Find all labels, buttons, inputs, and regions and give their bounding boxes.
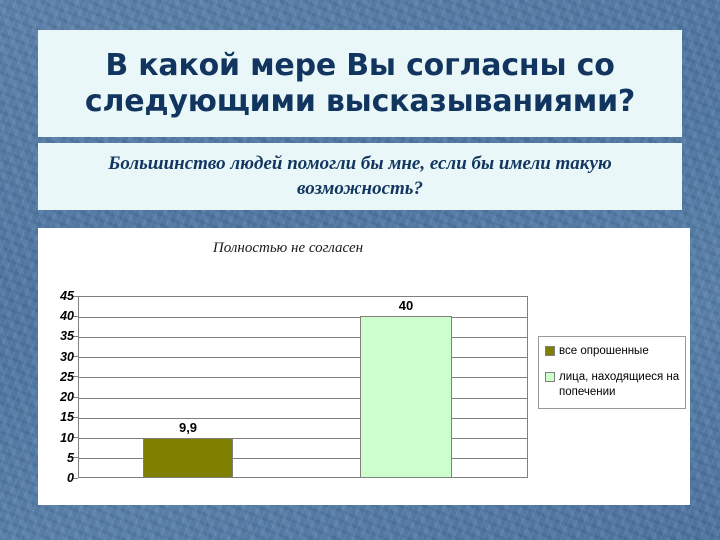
legend-label-persons-in-care: лица, находящиеся на попечении: [559, 370, 680, 399]
gridline: [79, 418, 527, 419]
y-axis-tick-label: 45: [34, 289, 74, 303]
gridline: [79, 377, 527, 378]
slide-subtitle-box: Большинство людей помогли бы мне, если б…: [38, 143, 682, 210]
legend-swatch-persons-in-care: [545, 372, 555, 382]
page-title: В какой мере Вы согласны со следующими в…: [38, 48, 682, 119]
gridline: [79, 337, 527, 338]
plot-wrapper: 051015202530354045 9,940: [78, 296, 528, 478]
slide-canvas: В какой мере Вы согласны со следующими в…: [0, 0, 720, 540]
y-axis-tick-label: 35: [34, 329, 74, 343]
slide-subtitle: Большинство людей помогли бы мне, если б…: [38, 152, 682, 201]
y-axis-tick-label: 20: [34, 390, 74, 404]
y-axis-tick-label: 0: [34, 471, 74, 485]
gridline: [79, 398, 527, 399]
chart-panel: Полностью не согласен 051015202530354045…: [38, 228, 690, 505]
chart-title: Полностью не согласен: [38, 240, 538, 257]
bar-1: [143, 438, 233, 478]
y-axis-tick-label: 10: [34, 431, 74, 445]
bar-value-label-2: 40: [396, 299, 416, 312]
legend-item-all-respondents: все опрошенные: [545, 344, 680, 358]
y-axis-tick-label: 15: [34, 410, 74, 424]
y-axis-tick-label: 30: [34, 350, 74, 364]
bar-2: [360, 316, 452, 478]
gridline: [79, 317, 527, 318]
bar-value-label-1: 9,9: [176, 421, 200, 434]
gridline: [79, 357, 527, 358]
legend-label-all-respondents: все опрошенные: [559, 344, 649, 358]
y-axis-tick-label: 5: [34, 451, 74, 465]
legend-item-persons-in-care: лица, находящиеся на попечении: [545, 370, 680, 399]
chart-legend: все опрошенные лица, находящиеся на попе…: [538, 336, 686, 409]
y-axis-tick-label: 25: [34, 370, 74, 384]
slide-title-box: В какой мере Вы согласны со следующими в…: [38, 30, 682, 137]
y-axis-tick-label: 40: [34, 309, 74, 323]
legend-swatch-all-respondents: [545, 346, 555, 356]
